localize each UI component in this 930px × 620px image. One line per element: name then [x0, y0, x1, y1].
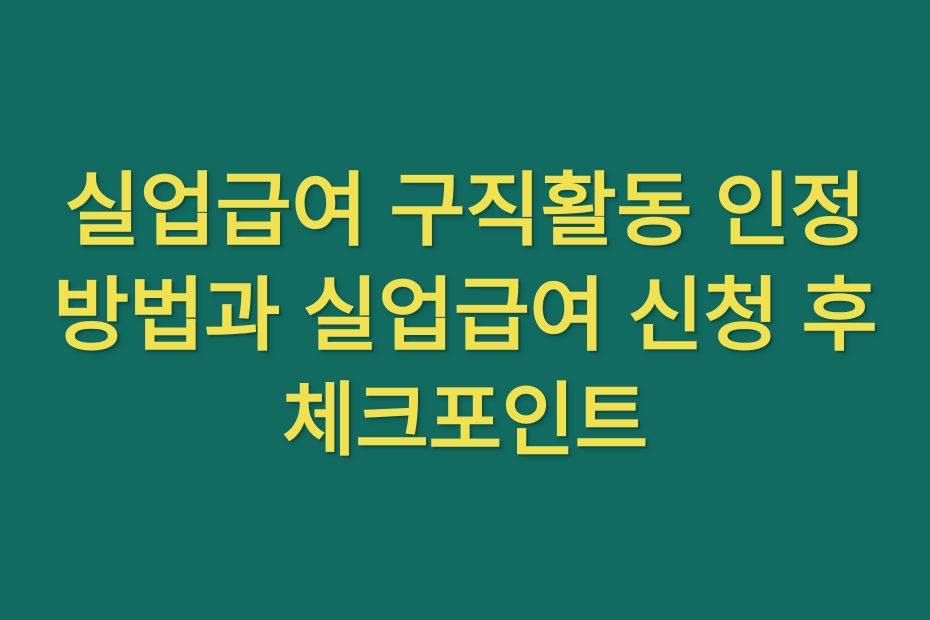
headline-block: 실업급여 구직활동 인정 방법과 실업급여 신청 후 체크포인트	[0, 158, 930, 473]
headline-line-2: 방법과 실업급여 신청 후	[0, 263, 929, 368]
thumbnail-canvas: 실업급여 구직활동 인정 방법과 실업급여 신청 후 체크포인트	[0, 0, 930, 620]
headline-line-3: 체크포인트	[16, 368, 914, 473]
headline-line-1: 실업급여 구직활동 인정	[0, 158, 929, 263]
